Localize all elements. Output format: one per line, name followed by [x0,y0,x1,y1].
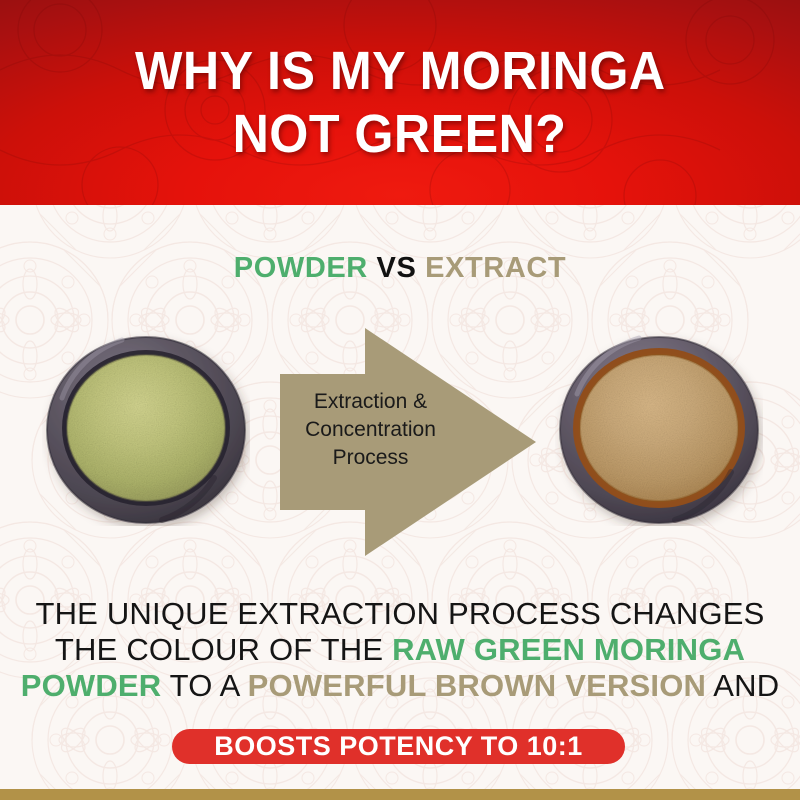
subtitle-extract: EXTRACT [425,252,566,284]
header-banner: WHY IS MY MORINGA NOT GREEN? [0,0,800,205]
body-copy-line-3-highlight-green: POWDER [21,668,162,703]
body-copy-line-3-plain-a: TO A [161,668,247,703]
bowl-of-brown-moringa-extract [555,330,763,526]
subtitle-spacer-1 [368,252,377,284]
body-copy-line-3-plain-b: AND [706,668,779,703]
body-copy-line-2-highlight: RAW GREEN MORINGA [392,632,745,667]
potency-badge: BOOSTS POTENCY TO 10:1 [172,729,625,764]
bowl-of-green-moringa-powder [42,330,250,526]
infographic-page: WHY IS MY MORINGA NOT GREEN? POWDER VS E… [0,0,800,800]
subtitle-vs: VS [377,252,417,284]
body-copy-line-3: POWDER TO A POWERFUL BROWN VERSION AND [0,668,800,704]
body-copy-line-1: THE UNIQUE EXTRACTION PROCESS CHANGES [0,596,800,632]
page-title: WHY IS MY MORINGA NOT GREEN? [0,0,800,205]
subtitle-powder: POWDER [234,252,368,284]
body-copy-line-2: THE COLOUR OF THE RAW GREEN MORINGA [0,632,800,668]
extraction-process-arrow [272,328,544,556]
body-copy-line-3-highlight-tan: POWERFUL BROWN VERSION [248,668,707,703]
body-copy: THE UNIQUE EXTRACTION PROCESS CHANGES TH… [0,596,800,704]
potency-badge-label: BOOSTS POTENCY TO 10:1 [214,731,583,762]
comparison-subtitle: POWDER VS EXTRACT [0,252,800,285]
title-line-1: WHY IS MY MORINGA [135,41,666,101]
subtitle-spacer-2 [416,252,425,284]
footer-accent-bar [0,789,800,800]
body-copy-line-2-plain: THE COLOUR OF THE [55,632,392,667]
title-line-2: NOT GREEN? [233,104,567,164]
